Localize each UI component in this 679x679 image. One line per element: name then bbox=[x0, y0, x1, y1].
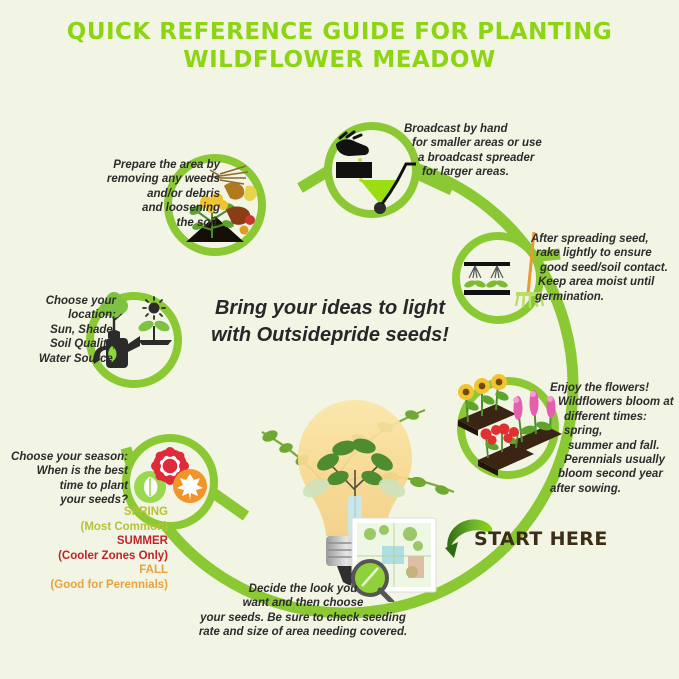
callout-line: and/or debris bbox=[40, 187, 220, 201]
start-here-label: START HERE bbox=[474, 528, 608, 550]
callout-line: rate and size of area needing covered. bbox=[178, 625, 428, 639]
callout-line: Decide the look you bbox=[178, 582, 428, 596]
callout-line: rake lightly to ensure bbox=[531, 246, 679, 260]
callout-rake: After spreading seed, rake lightly to en… bbox=[531, 232, 679, 304]
callout-line: after sowing. bbox=[550, 482, 679, 496]
callout-line: Wildflowers bloom at bbox=[550, 395, 679, 409]
callout-line: Choose your location: bbox=[6, 294, 116, 323]
callout-line: for larger areas. bbox=[404, 165, 579, 179]
callout-line: bloom second year bbox=[550, 467, 679, 481]
tagline: Bring your ideas to light with Outsidepr… bbox=[180, 295, 480, 349]
callout-line: Water Source. bbox=[6, 352, 116, 366]
callout-location: Choose your location: Sun, Shade, Soil Q… bbox=[6, 294, 116, 366]
callout-line: When is the best bbox=[8, 464, 128, 478]
callout-season: Choose your season: When is the best tim… bbox=[8, 450, 128, 508]
callout-line: your seeds. Be sure to check seeding bbox=[178, 611, 428, 625]
callout-line: Perennials usually bbox=[550, 453, 679, 467]
callout-enjoy: Enjoy the flowers! Wildflowers bloom at … bbox=[550, 381, 679, 496]
callout-line: good seed/soil contact. bbox=[531, 261, 679, 275]
callout-line: Broadcast by hand bbox=[404, 122, 579, 136]
season-legend-spring-note: (Most Common) bbox=[8, 520, 168, 535]
callout-line: removing any weeds bbox=[40, 172, 220, 186]
callout-line: the soil. bbox=[40, 216, 220, 230]
callout-prepare: Prepare the area by removing any weeds a… bbox=[40, 158, 220, 230]
callout-decide: Decide the look you want and then choose… bbox=[178, 582, 428, 640]
tagline-line-2: with Outsidepride seeds! bbox=[180, 322, 480, 349]
callout-line: summer and fall. bbox=[550, 439, 679, 453]
callout-broadcast: Broadcast by hand for smaller areas or u… bbox=[404, 122, 579, 180]
callout-line: different times: spring, bbox=[550, 410, 679, 439]
callout-line: a broadcast spreader bbox=[404, 151, 579, 165]
callout-line: Prepare the area by bbox=[40, 158, 220, 172]
callout-line: Soil Quality, bbox=[6, 337, 116, 351]
callout-line: for smaller areas or use bbox=[404, 136, 579, 150]
callout-line: Choose your season: bbox=[8, 450, 128, 464]
season-legend-spring-name: SPRING bbox=[8, 505, 168, 520]
callout-line: want and then choose bbox=[178, 596, 428, 610]
season-legend-summer-name: SUMMER bbox=[8, 534, 168, 549]
step-node-enjoy[interactable] bbox=[452, 372, 564, 484]
callout-line: After spreading seed, bbox=[531, 232, 679, 246]
season-legend-fall-name: FALL bbox=[8, 563, 168, 578]
callout-line: germination. bbox=[531, 290, 679, 304]
season-legend-summer-note: (Cooler Zones Only) bbox=[8, 549, 168, 564]
infographic-canvas: QUICK REFERENCE GUIDE FOR PLANTING WILDF… bbox=[0, 0, 679, 679]
callout-line: and loosening bbox=[40, 201, 220, 215]
season-legend-fall-note: (Good for Perennials) bbox=[8, 578, 168, 593]
tagline-line-1: Bring your ideas to light bbox=[180, 295, 480, 322]
callout-line: Enjoy the flowers! bbox=[550, 381, 679, 395]
season-legend: SPRING (Most Common) SUMMER (Cooler Zone… bbox=[8, 505, 168, 592]
callout-line: time to plant bbox=[8, 479, 128, 493]
callout-line: Keep area moist until bbox=[531, 275, 679, 289]
callout-line: Sun, Shade, bbox=[6, 323, 116, 337]
